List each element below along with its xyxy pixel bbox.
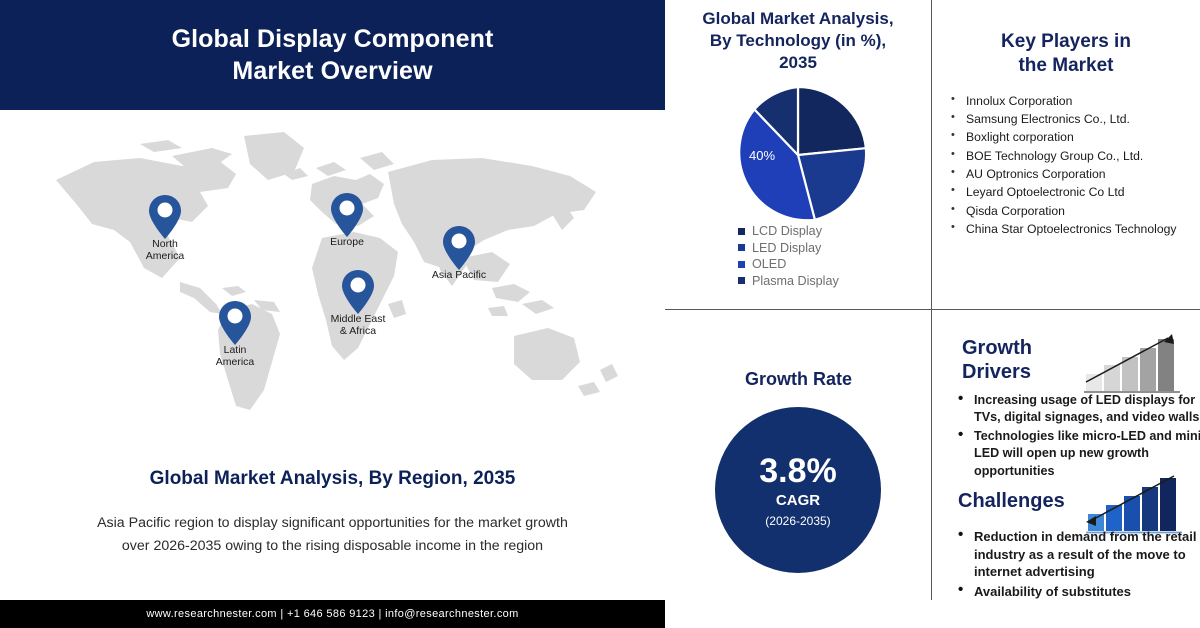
map-pin-icon	[341, 269, 375, 315]
legend-item-led: LED Display	[738, 241, 839, 255]
key-players-title-line1: Key Players in	[1001, 31, 1131, 52]
growth-drivers-bar-chart-icon	[1084, 332, 1180, 394]
left-column: Global Display Component Market Overview	[0, 0, 665, 628]
region-section-heading: Global Market Analysis, By Region, 2035	[0, 468, 665, 490]
list-item: Samsung Electronics Co., Ltd.	[966, 111, 1188, 128]
list-item: China Star Optoelectronics Technology	[966, 221, 1188, 238]
world-map: North America Europe Asi	[0, 110, 665, 460]
list-item: Increasing usage of LED displays for TVs…	[974, 392, 1200, 426]
legend-label: LED Display	[752, 241, 821, 255]
legend-label: LCD Display	[752, 224, 822, 238]
growth-rate-panel: Growth Rate 3.8% CAGR (2026-2035)	[665, 310, 932, 600]
map-pin-label-line1: Middle East	[331, 313, 386, 325]
legend-item-oled: OLED	[738, 257, 839, 271]
growth-rate-value: 3.8%	[759, 454, 837, 488]
legend-item-lcd: LCD Display	[738, 224, 839, 238]
legend-swatch-icon	[738, 244, 745, 251]
map-pin-label-line2: America	[146, 250, 185, 262]
map-pin-asia-pacific[interactable]: Asia Pacific	[442, 225, 476, 271]
map-pin-europe[interactable]: Europe	[330, 192, 364, 238]
page-title-line2: Market Overview	[232, 57, 432, 85]
key-players-title: Key Players in the Market	[932, 0, 1200, 79]
region-section-note: Asia Pacific region to display significa…	[96, 512, 569, 558]
legend-swatch-icon	[738, 261, 745, 268]
map-pin-label: Europe	[330, 236, 364, 248]
growth-drivers-title-line1: Growth	[962, 337, 1032, 359]
growth-rate-title: Growth Rate	[665, 368, 932, 391]
title-banner: Global Display Component Market Overview	[0, 0, 665, 110]
list-item: Leyard Optoelectronic Co Ltd	[966, 184, 1188, 201]
growth-rate-metric: CAGR	[776, 493, 820, 508]
footer-bar: www.researchnester.com | +1 646 586 9123…	[0, 600, 665, 628]
growth-drivers-panel: Growth Drivers Increasing usage of LED d…	[932, 310, 1200, 600]
challenges-list: Reduction in demand from the retail indu…	[948, 528, 1200, 603]
pie-slice-lcd	[798, 87, 866, 155]
list-item: Availability of substitutes	[974, 583, 1200, 601]
list-item: AU Optronics Corporation	[966, 166, 1188, 183]
map-pin-label-line1: Europe	[330, 236, 364, 248]
growth-rate-circle: 3.8% CAGR (2026-2035)	[715, 407, 881, 573]
map-pin-label-line2: America	[216, 356, 255, 368]
map-pin-north-america[interactable]: North America	[148, 194, 182, 240]
growth-drivers-title-line2: Drivers	[962, 361, 1031, 383]
map-pin-icon	[148, 194, 182, 240]
legend-swatch-icon	[738, 228, 745, 235]
list-item: BOE Technology Group Co., Ltd.	[966, 148, 1188, 165]
legend-swatch-icon	[738, 277, 745, 284]
map-pin-label-line1: Latin	[224, 344, 247, 356]
list-item: Boxlight corporation	[966, 129, 1188, 146]
page-title: Global Display Component Market Overview	[172, 23, 494, 87]
technology-title-line3: 2035	[779, 53, 817, 72]
growth-drivers-title: Growth Drivers	[962, 336, 1072, 385]
right-panels: Global Market Analysis, By Technology (i…	[665, 0, 1200, 600]
page-title-line1: Global Display Component	[172, 25, 494, 53]
legend-label: Plasma Display	[752, 274, 839, 288]
list-item: Qisda Corporation	[966, 203, 1188, 220]
technology-panel-title: Global Market Analysis, By Technology (i…	[665, 0, 931, 73]
key-players-list: Innolux Corporation Samsung Electronics …	[932, 93, 1200, 239]
map-pin-label: Latin America	[216, 344, 255, 368]
challenges-title: Challenges	[958, 490, 1065, 513]
map-pin-label: Asia Pacific	[432, 269, 486, 281]
footer-contact-text: www.researchnester.com | +1 646 586 9123…	[146, 608, 518, 620]
world-map-svg	[22, 118, 642, 448]
legend-label: OLED	[752, 257, 786, 271]
technology-pie-chart: 40%	[729, 86, 867, 224]
legend-item-plasma: Plasma Display	[738, 274, 839, 288]
list-item: Innolux Corporation	[966, 93, 1188, 110]
pie-slice-value-label: 40%	[749, 148, 775, 163]
list-item: Reduction in demand from the retail indu…	[974, 528, 1200, 581]
map-pin-label-line2: & Africa	[340, 325, 376, 337]
growth-drivers-list: Increasing usage of LED displays for TVs…	[948, 392, 1200, 482]
map-pin-icon	[330, 192, 364, 238]
technology-panel: Global Market Analysis, By Technology (i…	[665, 0, 932, 310]
growth-rate-period: (2026-2035)	[765, 515, 830, 527]
map-pin-middle-east-africa[interactable]: Middle East & Africa	[341, 269, 375, 315]
challenges-bar-chart-icon	[1080, 472, 1182, 534]
map-pin-icon	[442, 225, 476, 271]
map-pin-label-line1: North	[152, 238, 178, 250]
technology-title-line1: Global Market Analysis,	[702, 9, 893, 28]
infographic-page: Global Display Component Market Overview	[0, 0, 1200, 628]
map-pin-icon	[218, 300, 252, 346]
map-pin-latin-america[interactable]: Latin America	[218, 300, 252, 346]
technology-title-line2: By Technology (in %),	[710, 31, 886, 50]
map-pin-label: Middle East & Africa	[331, 313, 386, 337]
map-pin-label: North America	[146, 238, 185, 262]
key-players-panel: Key Players in the Market Innolux Corpor…	[932, 0, 1200, 310]
map-pin-label-line1: Asia Pacific	[432, 269, 486, 281]
key-players-title-line2: the Market	[1018, 55, 1113, 76]
pie-legend: LCD Display LED Display OLED Plasma Disp…	[738, 224, 839, 290]
